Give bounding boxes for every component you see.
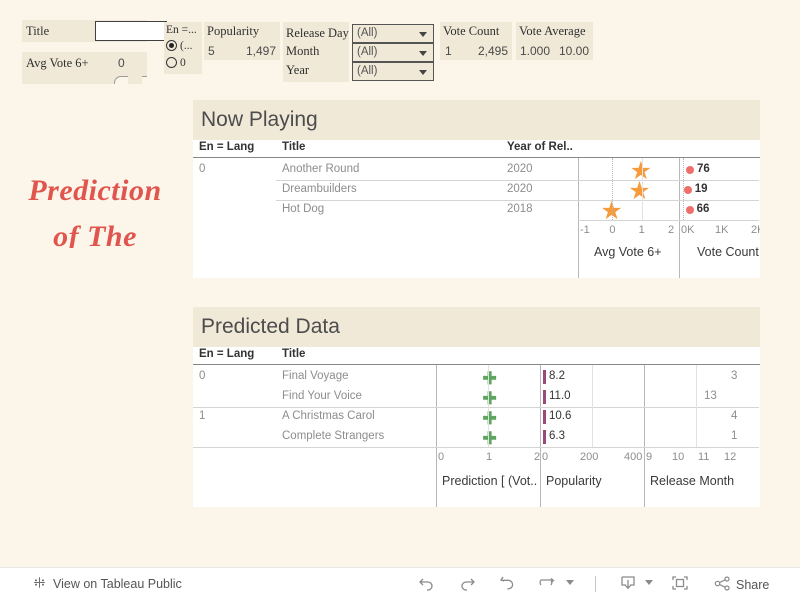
download-dropdown-caret-icon[interactable] [645,580,653,585]
gridline-zero [683,158,685,220]
prediction-plus-marker: ✚ [483,390,497,407]
radio-selected-icon [166,40,177,51]
filter-vote-average: Vote Average 1.000 10.00 [516,22,593,60]
prediction-plus-marker: ✚ [483,410,497,427]
fullscreen-icon[interactable] [670,574,692,594]
row-divider [276,180,578,181]
axis-top-border [193,447,759,448]
popularity-bar [543,390,546,404]
share-label: Share [736,578,769,592]
release-day-dropdown[interactable]: (All) [352,24,434,43]
column-header-2: Year of Rel.. [507,141,573,153]
vote-count-dot-marker [686,166,694,174]
prediction-plus-marker: ✚ [483,370,497,387]
refresh-icon[interactable] [537,574,559,594]
chevron-down-icon [419,32,427,37]
cell-lang[interactable]: 0 [199,163,205,175]
release-month-dropdown[interactable]: (All) [352,43,434,62]
chevron-down-icon [419,70,427,75]
vote-count-min-value: 1 [445,44,452,58]
column-header-1: Title [282,141,305,153]
row-divider [193,407,759,408]
axis-title-2: Release Month [650,474,734,488]
vote-count-axis-tick-2: 2K [751,224,760,236]
filter-release-labels: Release Day Month Year [283,22,349,82]
table-header-row [193,347,760,365]
filter-vote-count: Vote Count 1 2,495 [440,22,512,60]
vote-count-dot-marker [686,206,694,214]
filter-release-year-label: Year [286,63,309,78]
axis-title-1: Popularity [546,474,602,488]
release-month-value: 1 [731,430,737,442]
filter-bar: Title Avg Vote 6+ 0 1 En =... (... 0 Pop… [0,0,800,92]
filter-lang-option-1-label: 0 [180,57,186,69]
column-header-0: En = Lang [199,348,254,360]
share-button[interactable]: Share [714,576,769,594]
refresh-dropdown-caret-icon[interactable] [566,580,574,585]
revert-icon[interactable] [497,574,519,594]
pane-divider-0 [436,365,437,507]
vote-count-value: 76 [697,163,710,175]
redo-icon[interactable] [457,574,479,594]
axis-tick-0-1: 1 [486,451,492,463]
popularity-value: 8.2 [549,370,565,382]
axis-tick-1-1: 200 [580,451,598,463]
axis-tick-2-1: 10 [672,451,684,463]
axis-tick-1-0: 0 [542,451,548,463]
filter-avg-vote: Avg Vote 6+ 0 1 [22,52,147,84]
vote-count-axis-tick-1: 1K [715,224,728,236]
cell-lang: 1 [199,410,205,422]
filter-title: Title [22,20,147,42]
table-header-row [193,140,760,158]
view-on-tableau-public-label: View on Tableau Public [53,577,182,591]
axis-tick-2-2: 11 [698,451,709,463]
column-header-0: En = Lang [199,141,254,153]
pane-divider-vote-count [679,158,680,278]
predicted-data-title: Predicted Data [193,307,760,347]
popularity-max-value: 1,497 [246,44,276,58]
popularity-bar [543,430,546,444]
filter-title-label: Title [26,24,49,39]
avg-vote-slider-handle-min[interactable] [114,76,128,84]
pane-divider-avg-vote [578,158,579,278]
popularity-min-value: 5 [208,44,215,58]
now-playing-title: Now Playing [193,100,760,140]
vote-average-max-value: 10.00 [559,44,589,58]
axis-tick-1-2: 400 [624,451,642,463]
release-month-value: (All) [357,46,377,58]
gridline [488,365,489,447]
chevron-down-icon [419,51,427,56]
avg-vote-axis-tick-3: 2 [668,224,674,236]
undo-icon[interactable] [417,574,439,594]
filter-lang: En =... (... 0 [164,22,202,74]
popularity-bar [543,370,546,384]
axis-tick-0-2: 2 [534,451,540,463]
avg-vote-axis-tick-0: -1 [580,224,590,236]
vote-count-value: 19 [695,183,708,195]
filter-lang-option-1[interactable]: 0 [166,57,186,69]
share-icon [714,576,731,594]
now-playing-table: En = LangTitleYear of Rel..0Another Roun… [193,140,760,278]
cell-title: Complete Strangers [282,430,384,442]
release-month-value: 13 [704,390,717,402]
view-on-tableau-public-link[interactable]: View on Tableau Public [32,575,182,593]
cell-title: Find Your Voice [282,390,362,402]
cell-year: 2020 [507,183,533,195]
row-divider [276,200,578,201]
release-month-value: 3 [731,370,737,382]
popularity-value: 6.3 [549,430,565,442]
avg-vote-axis-tick-2: 1 [639,224,645,236]
axis-top-border [578,220,759,221]
filter-vote-count-label: Vote Count [443,24,499,39]
release-year-value: (All) [357,65,377,77]
release-year-dropdown[interactable]: (All) [352,62,434,81]
filter-release-day-label: Release Day [286,26,349,41]
tableau-logo-icon [32,575,47,593]
axis-title-0: Prediction [ (Vot.. [442,474,537,488]
dashboard-title-line-2: of The [0,214,190,248]
prediction-plus-marker: ✚ [483,430,497,447]
avg-vote-max-value: 1 [146,56,147,70]
avg-vote-slider-handle-max[interactable] [142,76,147,84]
predicted-data-table: En = LangTitle0Final Voyage✚8.23Find You… [193,347,760,507]
popularity-bar [543,410,546,424]
filter-lang-label: En =... [166,24,197,36]
axis-tick-2-0: 9 [646,451,652,463]
cell-title: Dreambuilders [282,183,357,195]
vote-count-max-value: 2,495 [478,44,508,58]
download-icon[interactable] [618,574,640,594]
filter-release-month-label: Month [286,44,319,59]
radio-unselected-icon [166,57,177,68]
cell-year: 2020 [507,163,533,175]
bottom-toolbar: View on Tableau Public [0,567,800,600]
toolbar-divider [595,576,596,592]
filter-popularity-label: Popularity [207,24,259,39]
row-divider [578,180,759,181]
vote-count-axis-title: Vote Count [697,245,759,259]
title-search-input[interactable] [95,21,167,41]
popularity-value: 11.0 [549,390,571,402]
cell-title: Another Round [282,163,359,175]
cell-title: A Christmas Carol [282,410,375,422]
column-header-1: Title [282,348,305,360]
avg-vote-min-value: 0 [118,56,125,70]
vote-average-min-value: 1.000 [520,44,550,58]
gridline [696,365,697,447]
dashboard-title-line-1: Prediction [0,168,190,214]
release-month-value: 4 [731,410,737,422]
filter-lang-option-0-label: (... [180,40,192,52]
filter-popularity: Popularity 5 1,497 [204,22,280,60]
vote-count-axis-tick-0: 0K [681,224,694,236]
cell-lang: 0 [199,370,205,382]
predicted-data-card: Predicted Data En = LangTitle0Final Voya… [193,307,760,507]
filter-avg-vote-label: Avg Vote 6+ [26,56,89,71]
cell-title: Hot Dog [282,203,324,215]
now-playing-card: Now Playing En = LangTitleYear of Rel..0… [193,100,760,278]
filter-vote-average-label: Vote Average [519,24,586,39]
avg-vote-axis-tick-1: 0 [609,224,615,236]
cell-year: 2018 [507,203,533,215]
popularity-value: 10.6 [549,410,571,422]
dashboard-title: Prediction of The [0,168,190,248]
cell-title: Final Voyage [282,370,349,382]
filter-lang-option-0[interactable]: (... [166,40,192,52]
gridline [592,365,593,447]
avg-vote-axis-title: Avg Vote 6+ [594,245,662,259]
release-day-value: (All) [357,27,377,39]
pane-divider-2 [644,365,645,507]
pane-divider-1 [540,365,541,507]
axis-tick-2-3: 12 [724,451,736,463]
axis-tick-0-0: 0 [438,451,444,463]
gridline [642,158,643,220]
vote-count-value: 66 [697,203,710,215]
gridline-zero [612,158,614,220]
